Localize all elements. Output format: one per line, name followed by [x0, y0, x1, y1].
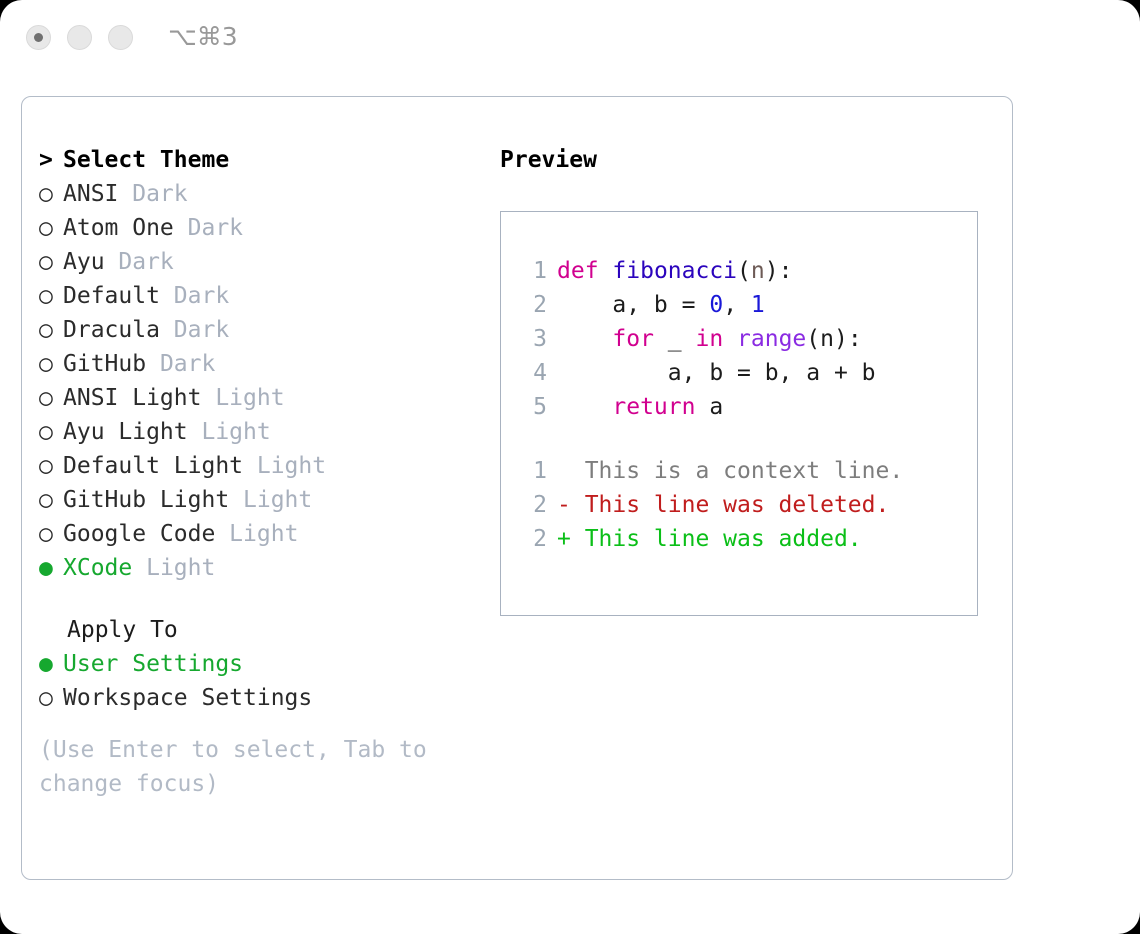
code-line: 4 a, b = b, a + b [521, 356, 969, 390]
code-token: n [820, 326, 834, 352]
keyboard-shortcut-label: ⌥⌘3 [168, 22, 238, 51]
code-line: 5 return a [521, 390, 969, 424]
theme-list-item[interactable]: ○ANSI Dark [39, 177, 479, 211]
code-token: ( [737, 258, 751, 284]
theme-name-label: Google Code [63, 521, 215, 547]
theme-list-item[interactable]: ○Default Light Light [39, 449, 479, 483]
preview-box: 1def fibonacci(n):2 a, b = 0, 13 for _ i… [500, 211, 978, 616]
radio-unselected-icon: ○ [39, 483, 63, 517]
theme-variant-label: Dark [160, 317, 229, 343]
theme-variant-label: Dark [160, 283, 229, 309]
code-token: _ [654, 326, 696, 352]
code-token: def [557, 258, 599, 284]
theme-variant-label: Dark [146, 351, 215, 377]
theme-list-item[interactable]: ○Atom One Dark [39, 211, 479, 245]
code-line-number: 4 [521, 356, 547, 390]
preview-column: Preview 1def fibonacci(n):2 a, b = 0, 13… [500, 143, 1000, 616]
theme-list-item[interactable]: ●XCode Light [39, 551, 479, 585]
radio-unselected-icon: ○ [39, 381, 63, 415]
apply-to-option-label: User Settings [63, 651, 243, 677]
prompt-caret-icon: > [39, 143, 63, 177]
code-token: a, b = [557, 292, 709, 318]
app-window: ⌥⌘3 >Select Theme ○ANSI Dark○Atom One Da… [0, 0, 1140, 934]
theme-list-item[interactable]: ○Default Dark [39, 279, 479, 313]
theme-list-item[interactable]: ○GitHub Light Light [39, 483, 479, 517]
theme-list-item[interactable]: ○Google Code Light [39, 517, 479, 551]
code-line-number: 2 [521, 288, 547, 322]
window-dot-three-icon[interactable] [108, 25, 133, 50]
theme-name-label: Default Light [63, 453, 243, 479]
code-token: return [612, 394, 695, 420]
code-token: a [695, 394, 723, 420]
radio-unselected-icon: ○ [39, 517, 63, 551]
code-token: fibonacci [612, 258, 737, 284]
preview-separator [521, 424, 969, 454]
theme-name-label: Dracula [63, 317, 160, 343]
select-theme-heading-label: Select Theme [63, 147, 229, 173]
radio-unselected-icon: ○ [39, 415, 63, 449]
code-token: a, b = b, a + b [557, 360, 876, 386]
dot-inner-mark [34, 33, 43, 42]
radio-selected-icon: ● [39, 647, 63, 681]
apply-to-option[interactable]: ●User Settings [39, 647, 479, 681]
theme-variant-label: Light [215, 521, 298, 547]
theme-list-item[interactable]: ○Ayu Dark [39, 245, 479, 279]
code-token: for [612, 326, 654, 352]
theme-list-item[interactable]: ○Dracula Dark [39, 313, 479, 347]
select-theme-heading: >Select Theme [39, 143, 479, 177]
code-preview-area: 1def fibonacci(n):2 a, b = 0, 13 for _ i… [521, 254, 969, 556]
code-token: ( [806, 326, 820, 352]
code-token [599, 258, 613, 284]
radio-unselected-icon: ○ [39, 279, 63, 313]
radio-unselected-icon: ○ [39, 313, 63, 347]
window-dot-active-icon[interactable] [26, 25, 51, 50]
code-token: ): [765, 258, 793, 284]
theme-name-label: ANSI Light [63, 385, 201, 411]
theme-variant-label: Light [243, 453, 326, 479]
code-token: n [751, 258, 765, 284]
code-line: 1def fibonacci(n): [521, 254, 969, 288]
diff-line-number: 2 [521, 522, 547, 556]
theme-variant-label: Light [132, 555, 215, 581]
apply-to-heading: Apply To [39, 613, 479, 647]
theme-list-item[interactable]: ○Ayu Light Light [39, 415, 479, 449]
theme-name-label: GitHub [63, 351, 146, 377]
theme-name-label: XCode [63, 555, 132, 581]
diff-line: 1 This is a context line. [521, 454, 969, 488]
theme-name-label: Ayu [63, 249, 105, 275]
code-token: , [723, 292, 751, 318]
code-token [557, 326, 612, 352]
theme-variant-label: Light [188, 419, 271, 445]
radio-unselected-icon: ○ [39, 681, 63, 715]
diff-line-text: This is a context line. [557, 458, 903, 484]
radio-unselected-icon: ○ [39, 449, 63, 483]
radio-selected-icon: ● [39, 551, 63, 585]
theme-variant-label: Dark [105, 249, 174, 275]
traffic-light-dots [26, 25, 133, 50]
diff-line-number: 2 [521, 488, 547, 522]
code-line-number: 5 [521, 390, 547, 424]
theme-variant-label: Dark [174, 215, 243, 241]
theme-variant-label: Light [229, 487, 312, 513]
theme-name-label: Ayu Light [63, 419, 188, 445]
code-token: range [737, 326, 806, 352]
theme-list-item[interactable]: ○ANSI Light Light [39, 381, 479, 415]
diff-line-number: 1 [521, 454, 547, 488]
diff-line: 2- This line was deleted. [521, 488, 969, 522]
diff-line: 2+ This line was added. [521, 522, 969, 556]
code-token: 0 [709, 292, 723, 318]
code-line-number: 3 [521, 322, 547, 356]
diff-line-text: - This line was deleted. [557, 492, 889, 518]
theme-name-label: Atom One [63, 215, 174, 241]
code-line: 3 for _ in range(n): [521, 322, 969, 356]
code-token [557, 394, 612, 420]
radio-unselected-icon: ○ [39, 177, 63, 211]
theme-list: ○ANSI Dark○Atom One Dark○Ayu Dark○Defaul… [39, 177, 479, 585]
theme-variant-label: Light [201, 385, 284, 411]
radio-unselected-icon: ○ [39, 347, 63, 381]
code-token: in [695, 326, 723, 352]
code-token: 1 [751, 292, 765, 318]
code-token [723, 326, 737, 352]
main-panel: >Select Theme ○ANSI Dark○Atom One Dark○A… [21, 96, 1013, 880]
apply-to-list: ●User Settings○Workspace Settings [39, 647, 479, 715]
theme-name-label: ANSI [63, 181, 118, 207]
radio-unselected-icon: ○ [39, 245, 63, 279]
theme-list-item[interactable]: ○GitHub Dark [39, 347, 479, 381]
window-titlebar: ⌥⌘3 [0, 0, 1140, 78]
theme-name-label: Default [63, 283, 160, 309]
keyboard-hint-text: (Use Enter to select, Tab to change focu… [39, 733, 447, 801]
radio-unselected-icon: ○ [39, 211, 63, 245]
theme-name-label: GitHub Light [63, 487, 229, 513]
apply-to-option-label: Workspace Settings [63, 685, 312, 711]
apply-to-option[interactable]: ○Workspace Settings [39, 681, 479, 715]
window-dot-two-icon[interactable] [67, 25, 92, 50]
code-line-number: 1 [521, 254, 547, 288]
theme-selector-column: >Select Theme ○ANSI Dark○Atom One Dark○A… [39, 143, 479, 801]
preview-title: Preview [500, 143, 1000, 177]
code-token: ): [834, 326, 862, 352]
diff-line-text: + This line was added. [557, 526, 862, 552]
theme-variant-label: Dark [118, 181, 187, 207]
code-line: 2 a, b = 0, 1 [521, 288, 969, 322]
